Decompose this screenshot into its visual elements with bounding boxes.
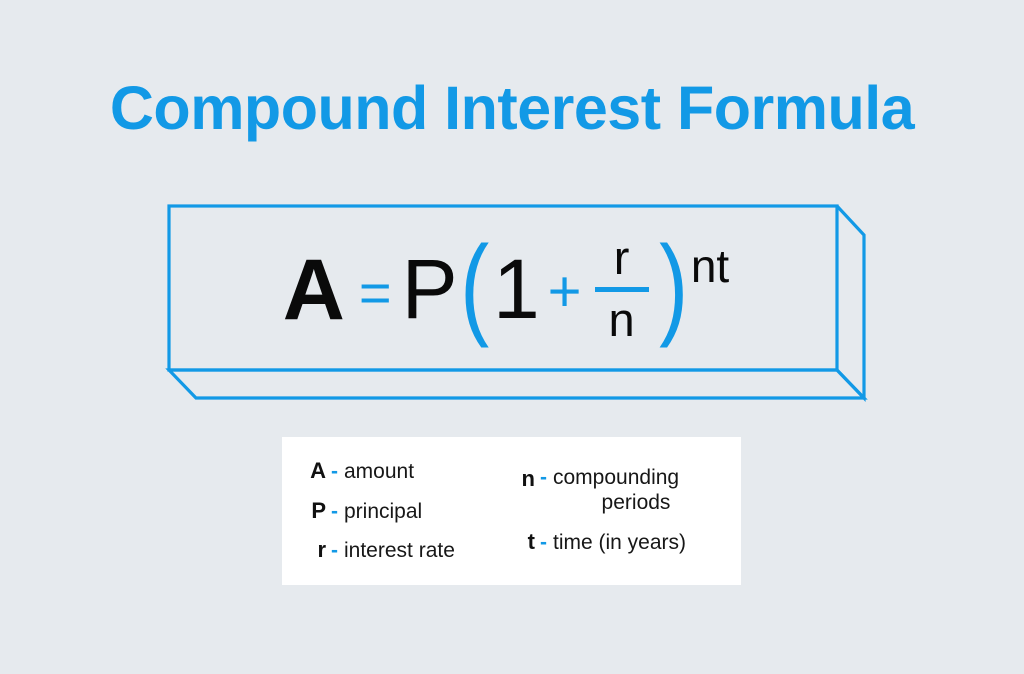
formula-symbol-p: P [402,247,458,331]
legend-description: time (in years) [553,531,686,556]
formula-expression: A = P ( 1 + r n ) nt [168,206,844,370]
legend-item-principal: P - principal [310,498,509,525]
box-bottom-face [169,370,864,398]
formula-plus-sign: + [548,263,582,321]
formula-number-one: 1 [493,247,540,331]
legend-symbol: A [310,458,326,483]
formula-row: A = P ( 1 + r n ) nt [283,233,729,344]
formula-equals-sign: = [359,265,392,321]
legend-description-line2: periods [553,491,719,516]
legend-separator: - [331,460,338,484]
page-title: Compound Interest Formula [0,78,1024,139]
legend-description: amount [344,460,414,485]
legend-description: interest rate [344,539,455,564]
legend-item-compounding-periods: n - compoundingperiods [519,466,719,516]
legend-item-time: t - time (in years) [519,529,719,556]
formula-fraction-denominator: n [608,296,634,345]
legend-item-amount: A - amount [310,458,509,485]
formula-fraction-numerator: r [614,234,630,283]
legend-description-line1: compounding [553,466,679,489]
legend-column-right: n - compoundingperiods t - time (in year… [509,466,719,555]
legend-separator: - [331,500,338,524]
legend-separator: - [540,531,547,555]
formula-close-paren: ) [659,240,688,332]
legend-symbol: n [519,466,535,491]
legend-description: compoundingperiods [553,466,719,516]
legend-separator: - [540,466,547,490]
formula-open-paren: ( [460,240,489,332]
formula-3d-box: A = P ( 1 + r n ) nt [160,190,876,415]
legend-symbol: t [519,529,535,554]
formula-fraction-bar [595,287,649,292]
legend-column-left: A - amount P - principal r - interest ra… [302,458,509,564]
legend-panel: A - amount P - principal r - interest ra… [282,437,741,585]
formula-exponent: nt [691,243,729,289]
legend-symbol: r [310,537,326,562]
legend-symbol: P [310,498,326,523]
legend-separator: - [331,539,338,563]
legend-description: principal [344,500,422,525]
legend-item-interest-rate: r - interest rate [310,537,509,564]
formula-fraction: r n [595,234,649,345]
formula-symbol-a: A [283,247,345,333]
poster-canvas: Compound Interest Formula A = P ( 1 + r [0,0,1024,674]
